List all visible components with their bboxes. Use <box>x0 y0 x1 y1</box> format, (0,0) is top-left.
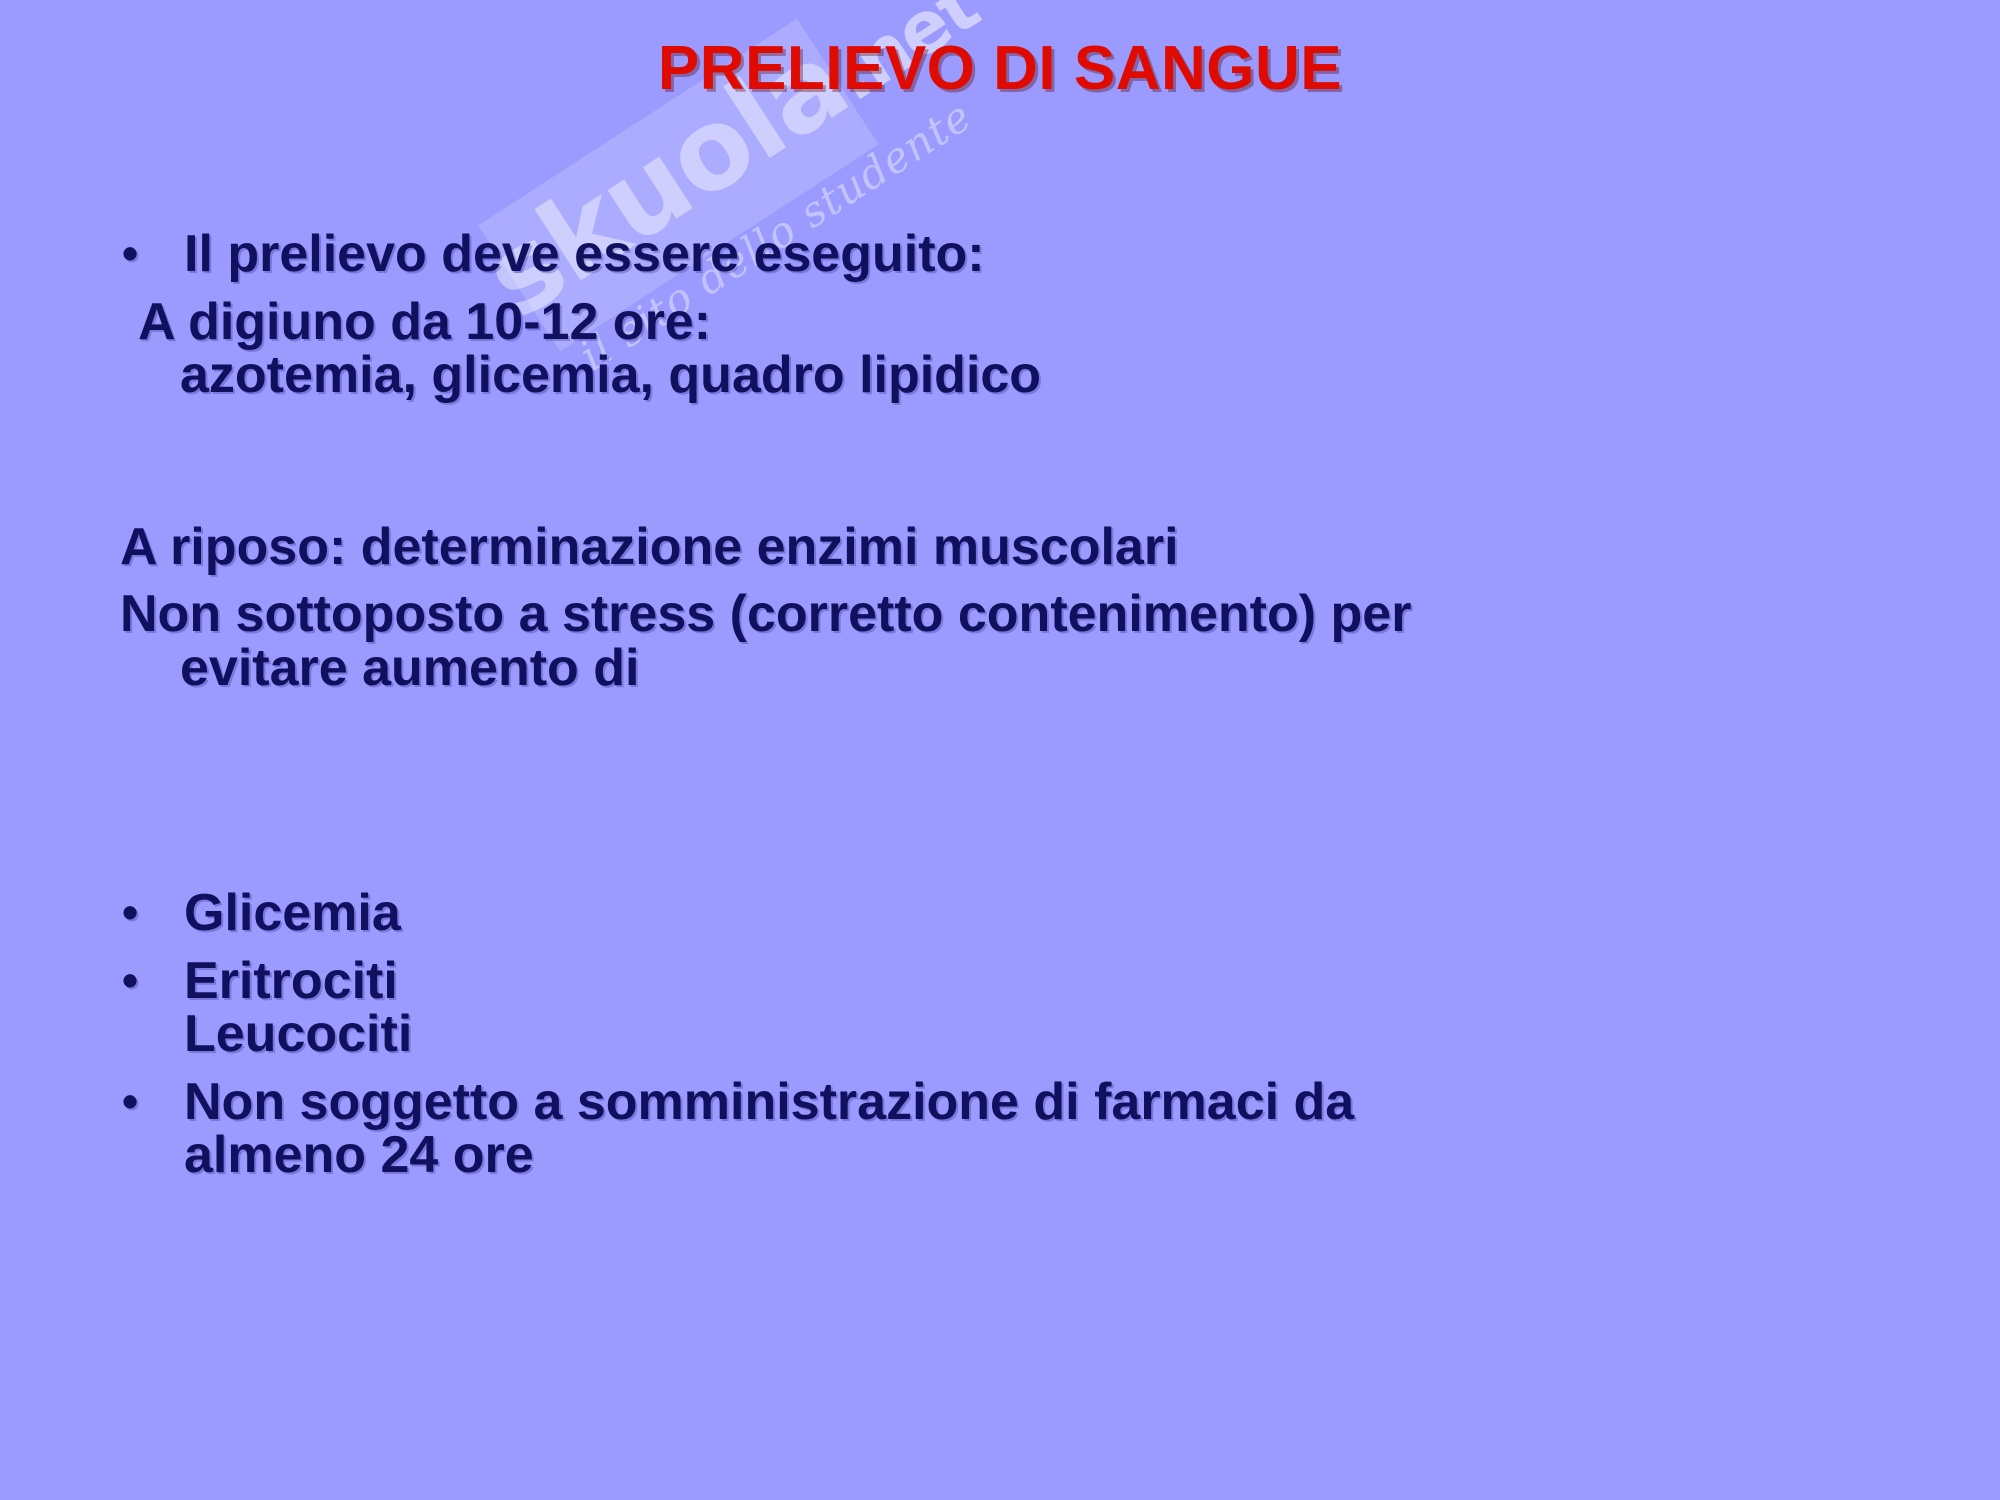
stress-line-2: evitare aumento di <box>120 642 1900 696</box>
slide-title: PRELIEVO DI SANGUE <box>0 33 2000 104</box>
list-item: • Non soggetto a somministrazione di far… <box>120 1076 1900 1183</box>
slide-canvas: skuola.net il sito dello studente PRELIE… <box>0 0 2000 1500</box>
spacer <box>120 695 1900 845</box>
list-item-sub: almeno 24 ore <box>184 1129 1900 1183</box>
bullet-glyph-icon: • <box>120 1076 184 1128</box>
fasting-line-1: A digiuno da 10-12 ore: <box>120 296 1900 350</box>
list-item-label: Glicemia <box>184 887 1900 941</box>
bullet-text-prelievo: Il prelievo deve essere eseguito: <box>184 228 1900 282</box>
list-item-body: Eritrociti Leucociti <box>184 955 1900 1062</box>
list-item-label: Non soggetto a somministrazione di farma… <box>184 1076 1900 1130</box>
spacer <box>120 845 1900 887</box>
list-item-body: Non soggetto a somministrazione di farma… <box>184 1076 1900 1183</box>
bullet-glyph-icon: • <box>120 955 184 1007</box>
list-item-label: Eritrociti <box>184 955 1900 1009</box>
bullet-glyph-icon: • <box>120 887 184 939</box>
rest-line-1: A riposo: determinazione enzimi muscolar… <box>120 521 1900 575</box>
list-item: • Glicemia <box>120 887 1900 941</box>
bullet-item-prelievo: • Il prelievo deve essere eseguito: <box>120 228 1900 282</box>
spacer <box>120 403 1900 521</box>
bullet-glyph-icon: • <box>120 228 184 280</box>
slide-body: • Il prelievo deve essere eseguito: A di… <box>120 228 1900 1183</box>
list-item-sub: Leucociti <box>184 1008 1900 1062</box>
fasting-line-2: azotemia, glicemia, quadro lipidico <box>120 349 1900 403</box>
list-item: • Eritrociti Leucociti <box>120 955 1900 1062</box>
stress-line-1: Non sottoposto a stress (corretto conten… <box>120 588 1900 642</box>
